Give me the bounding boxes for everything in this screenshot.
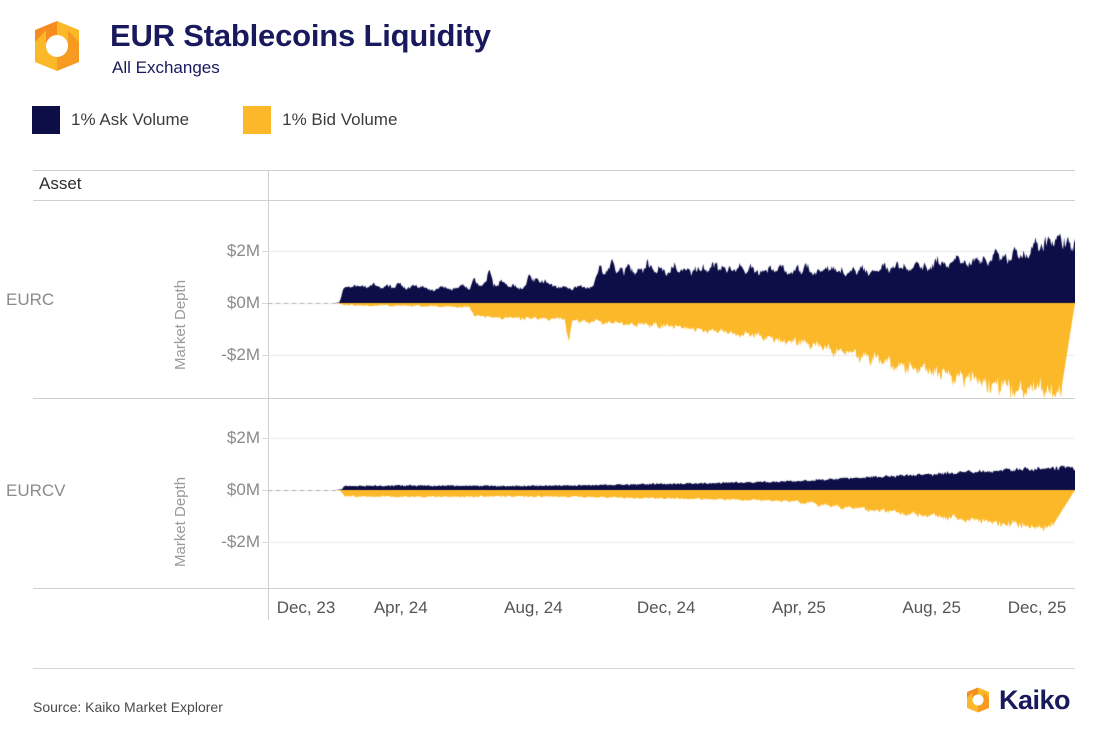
y-tick-label: $0M xyxy=(198,293,260,313)
y-tick-label: $2M xyxy=(198,241,260,261)
footer-brand: Kaiko xyxy=(963,683,1075,717)
kaiko-logo-icon xyxy=(27,16,87,76)
column-header-asset: Asset xyxy=(39,174,82,194)
source-text: Source: Kaiko Market Explorer xyxy=(33,699,223,715)
legend-swatch-ask xyxy=(32,106,60,134)
page-subtitle: All Exchanges xyxy=(110,56,491,80)
row-label-eurc: EURC xyxy=(6,290,54,310)
legend-item-bid: 1% Bid Volume xyxy=(243,106,397,134)
chart-legend: 1% Ask Volume 1% Bid Volume xyxy=(32,106,451,134)
y-tick-mark xyxy=(262,251,268,252)
row-label-eurcv: EURCV xyxy=(6,481,66,501)
x-tick-label: Dec, 24 xyxy=(637,598,696,618)
chart-panel-eurc xyxy=(268,200,1075,398)
chart-panel-eurcv xyxy=(268,400,1075,590)
x-tick-label: Dec, 25 xyxy=(1008,598,1067,618)
chart-canvas-eurc xyxy=(268,200,1075,398)
y-tick-label: -$2M xyxy=(198,532,260,552)
table-divider-top xyxy=(33,170,1075,171)
y-tick-mark xyxy=(262,490,268,491)
x-tick-label: Aug, 25 xyxy=(902,598,961,618)
x-tick-label: Aug, 24 xyxy=(504,598,563,618)
footer-divider xyxy=(33,668,1075,669)
x-tick-label: Dec, 23 xyxy=(277,598,336,618)
x-tick-label: Apr, 24 xyxy=(374,598,428,618)
chart-canvas-eurcv xyxy=(268,400,1075,590)
page-title: EUR Stablecoins Liquidity xyxy=(110,16,491,56)
y-tick-label: $2M xyxy=(198,428,260,448)
y-tick-mark xyxy=(262,438,268,439)
footer-wordmark: Kaiko xyxy=(999,685,1070,715)
chart-header: EUR Stablecoins Liquidity All Exchanges … xyxy=(0,0,1120,160)
y-tick-mark xyxy=(262,542,268,543)
y-axis-title-eurcv: Market Depth xyxy=(172,425,189,567)
y-tick-label: -$2M xyxy=(198,345,260,365)
y-axis-title-eurc: Market Depth xyxy=(172,228,189,370)
legend-item-ask: 1% Ask Volume xyxy=(32,106,189,134)
x-axis: Dec, 23Apr, 24Aug, 24Dec, 24Apr, 25Aug, … xyxy=(268,598,1075,628)
y-tick-mark xyxy=(262,303,268,304)
legend-label-bid: 1% Bid Volume xyxy=(282,110,397,130)
x-tick-label: Apr, 25 xyxy=(772,598,826,618)
legend-label-ask: 1% Ask Volume xyxy=(71,110,189,130)
y-tick-label: $0M xyxy=(198,480,260,500)
legend-swatch-bid xyxy=(243,106,271,134)
kaiko-logo-icon xyxy=(963,685,993,715)
table-divider-middle xyxy=(33,398,1075,399)
y-tick-mark xyxy=(262,355,268,356)
title-block: EUR Stablecoins Liquidity All Exchanges xyxy=(110,16,491,80)
